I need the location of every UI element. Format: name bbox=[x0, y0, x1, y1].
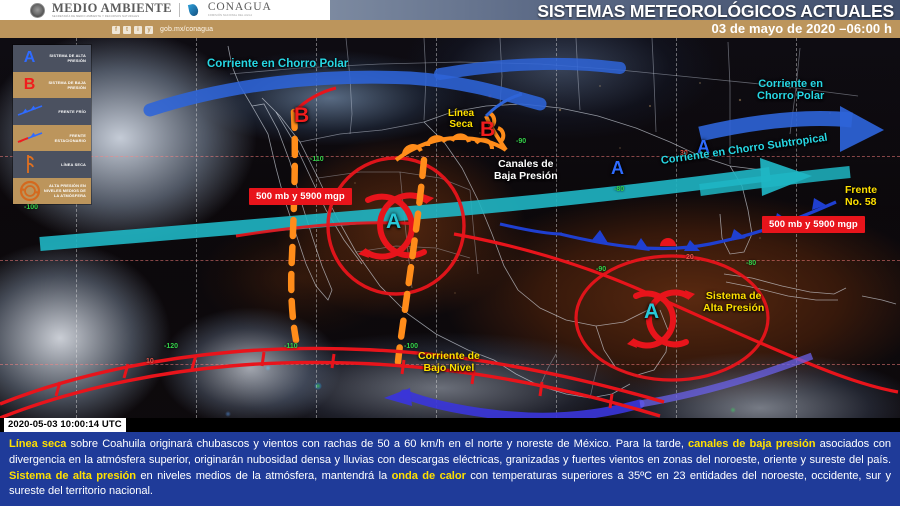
social-media-row[interactable]: f t i y gob.mx/conagua bbox=[112, 24, 213, 35]
low-pressure-symbol-northeast: B bbox=[480, 118, 495, 142]
low-pressure-letter-icon: B bbox=[16, 73, 43, 97]
footer-plain-text: en niveles medios de la atmósfera, mante… bbox=[136, 470, 392, 482]
mid-level-high-icon bbox=[16, 179, 43, 203]
forecast-summary-footer: Línea seca sobre Coahuila originará chub… bbox=[0, 432, 900, 506]
ministry-subtitle: SECRETARÍA DE MEDIO AMBIENTE Y RECURSOS … bbox=[52, 16, 172, 19]
lon-label: -80 bbox=[746, 260, 756, 267]
instagram-icon[interactable]: i bbox=[134, 26, 142, 34]
dry-line-icon bbox=[16, 152, 43, 176]
legend-label-mid-level-high: ALTA PRESIÓN EN NIVELES MEDIOS DE LA ATM… bbox=[43, 183, 89, 198]
high-pressure-symbol-us-east: A bbox=[697, 137, 710, 158]
high-pressure-symbol-west: A bbox=[386, 210, 401, 234]
lon-label: -110 bbox=[284, 343, 298, 350]
lon-label: -90 bbox=[596, 266, 606, 273]
mgp-label-west: 500 mb y 5900 mgp bbox=[249, 188, 352, 205]
facebook-icon[interactable]: f bbox=[112, 26, 120, 34]
weather-map-page: MEDIO AMBIENTE SECRETARÍA DE MEDIO AMBIE… bbox=[0, 0, 900, 506]
lat-label: 30 bbox=[680, 150, 688, 157]
lon-label: -110 bbox=[310, 156, 324, 163]
youtube-icon[interactable]: y bbox=[145, 26, 153, 34]
footer-highlight-term: Línea seca bbox=[9, 438, 66, 450]
forecast-summary-text: Línea seca sobre Coahuila originará chub… bbox=[9, 437, 891, 500]
lon-label: -120 bbox=[164, 343, 178, 350]
conagua-subtitle: COMISIÓN NACIONAL DEL AGUA bbox=[208, 15, 272, 18]
legend-item-stationary-front: FRENTE ESTACIONARIO bbox=[13, 125, 91, 152]
legend-label-low-pressure: SISTEMA DE BAJA PRESIÓN bbox=[43, 80, 89, 90]
conagua-wave-icon bbox=[187, 3, 201, 17]
logo-divider bbox=[179, 3, 180, 17]
footer-plain-text: sobre Coahuila originará chubascos y vie… bbox=[66, 438, 688, 450]
forecast-datetime: 03 de mayo de 2020 –06:00 h bbox=[712, 21, 892, 36]
high-pressure-letter-icon: A bbox=[16, 46, 43, 70]
stationary-front-icon bbox=[16, 126, 43, 150]
legend-label-stationary-front: FRENTE ESTACIONARIO bbox=[43, 133, 89, 143]
gobmx-url[interactable]: gob.mx/conagua bbox=[160, 26, 213, 33]
mgp-label-east: 500 mb y 5900 mgp bbox=[762, 216, 865, 233]
legend-item-cold-front: FRENTE FRÍO bbox=[13, 98, 91, 125]
legend-symbol-b: B bbox=[24, 77, 36, 93]
lon-label: -90 bbox=[516, 138, 526, 145]
lat-label: 10 bbox=[146, 358, 154, 365]
footer-highlight-term: onda de calor bbox=[392, 470, 466, 482]
legend-item-dry-line: LÍNEA SECA bbox=[13, 151, 91, 178]
legend-item-high-pressure: A SISTEMA DE ALTA PRESIÓN bbox=[13, 45, 91, 72]
footer-highlight-term: Sistema de alta presión bbox=[9, 470, 136, 482]
lat-label: 20 bbox=[686, 254, 694, 261]
cold-front-icon bbox=[16, 99, 43, 123]
footer-highlight-term: canales de baja presión bbox=[688, 438, 815, 450]
legend-label-dry-line: LÍNEA SECA bbox=[43, 162, 89, 167]
map-legend: A SISTEMA DE ALTA PRESIÓN B SISTEMA DE B… bbox=[12, 44, 92, 205]
legend-label-cold-front: FRENTE FRÍO bbox=[43, 109, 89, 114]
low-pressure-symbol-north: B bbox=[294, 104, 309, 128]
page-title: SISTEMAS METEOROLÓGICOS ACTUALES bbox=[537, 1, 894, 22]
mexican-eagle-icon bbox=[30, 3, 45, 18]
government-logos: MEDIO AMBIENTE SECRETARÍA DE MEDIO AMBIE… bbox=[30, 1, 272, 19]
lon-label: -80 bbox=[614, 186, 624, 193]
satellite-timestamp: 2020-05-03 10:00:14 UTC bbox=[4, 418, 126, 432]
lon-label: -100 bbox=[24, 204, 38, 211]
high-pressure-symbol-us-west: A bbox=[611, 158, 624, 179]
ministry-name: MEDIO AMBIENTE bbox=[52, 2, 172, 15]
legend-item-mid-level-high: ALTA PRESIÓN EN NIVELES MEDIOS DE LA ATM… bbox=[13, 178, 91, 205]
legend-symbol-a: A bbox=[24, 50, 36, 66]
satellite-weather-map: A A A A B B -120 -110 -100 -110 -90 -80 … bbox=[0, 38, 900, 418]
legend-item-low-pressure: B SISTEMA DE BAJA PRESIÓN bbox=[13, 72, 91, 99]
high-pressure-symbol-east: A bbox=[644, 300, 659, 324]
conagua-name: CONAGUA bbox=[208, 2, 272, 14]
lon-label: -100 bbox=[404, 343, 418, 350]
twitter-icon[interactable]: t bbox=[123, 26, 131, 34]
legend-label-high-pressure: SISTEMA DE ALTA PRESIÓN bbox=[43, 53, 89, 63]
